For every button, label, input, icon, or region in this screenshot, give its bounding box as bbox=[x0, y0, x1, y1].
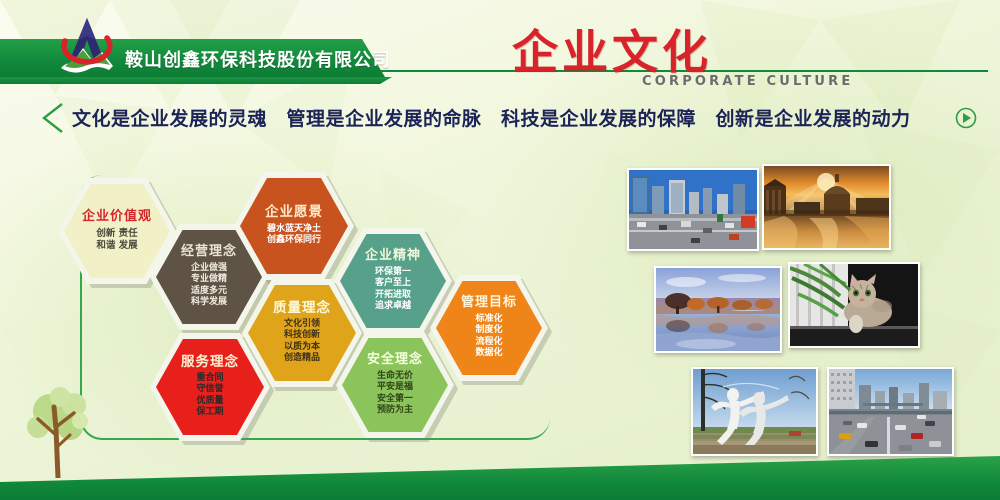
hexagon-title: 企业价值观 bbox=[82, 210, 152, 224]
company-name: 鞍山创鑫环保科技股份有限公司 bbox=[125, 46, 391, 72]
chevron-left-outline-icon bbox=[40, 102, 66, 134]
photo-image bbox=[790, 264, 918, 346]
hexagon-title: 质量理念 bbox=[273, 301, 331, 316]
hexagon-body: 企业做强 专业做精 适度多元 科学发展 bbox=[191, 263, 227, 309]
hexagon-title: 经营理念 bbox=[181, 245, 237, 259]
hexagon-body: 文化引领 科技创新 以质为本 创造精品 bbox=[284, 319, 320, 365]
page-title: 企业文化 bbox=[512, 16, 712, 82]
photo-image bbox=[656, 268, 780, 351]
page-title-english: CORPORATE CULTURE bbox=[642, 74, 853, 89]
hexagon-body: 标准化 制度化 流程化 数据化 bbox=[475, 314, 502, 360]
hexagon-body: 环保第一 客户至上 开拓进取 追求卓越 bbox=[375, 267, 411, 313]
photo-image bbox=[764, 166, 889, 248]
photo-image bbox=[693, 369, 816, 454]
hexagon-body: 生命无价 平安是福 安全第一 预防为主 bbox=[377, 371, 413, 417]
hexagon-title: 企业精神 bbox=[365, 249, 421, 263]
photo-cat-plant[interactable] bbox=[788, 262, 920, 348]
hexagon-title: 服务理念 bbox=[181, 355, 239, 370]
stylized-tree-icon bbox=[22, 383, 100, 478]
photo-city-street[interactable] bbox=[627, 168, 759, 251]
hexagon-title: 安全理念 bbox=[367, 353, 423, 367]
hexagon-body: 重合同 守信誉 优质量 保工期 bbox=[196, 373, 223, 419]
play-circle-icon[interactable] bbox=[955, 107, 977, 129]
slogan-bar: 文化是企业发展的灵魂 管理是企业发展的命脉 科技是企业发展的保障 创新是企业发展… bbox=[40, 102, 980, 136]
company-banner-underline bbox=[0, 77, 392, 84]
hexagon-title: 企业愿景 bbox=[265, 205, 323, 220]
photo-image bbox=[629, 170, 757, 249]
photo-sunset-square[interactable] bbox=[762, 164, 891, 250]
hexagon-title: 管理目标 bbox=[461, 296, 517, 310]
slogan-text: 文化是企业发展的灵魂 管理是企业发展的命脉 科技是企业发展的保障 创新是企业发展… bbox=[72, 104, 911, 131]
corporate-culture-poster: 鞍山创鑫环保科技股份有限公司 企业文化 CORPORATE CULTURE 文化… bbox=[0, 0, 1000, 500]
photo-image bbox=[829, 369, 952, 454]
photo-desert-water[interactable] bbox=[654, 266, 782, 353]
footer-hill bbox=[0, 456, 1000, 500]
photo-sculpture[interactable] bbox=[691, 367, 818, 456]
hexagon-body: 创新 责任 和谐 发展 bbox=[96, 228, 137, 252]
hexagon-body: 碧水蓝天净土 创鑫环保同行 bbox=[267, 224, 321, 247]
mountain-peak-logo-icon bbox=[52, 14, 122, 76]
photo-highway[interactable] bbox=[827, 367, 954, 456]
